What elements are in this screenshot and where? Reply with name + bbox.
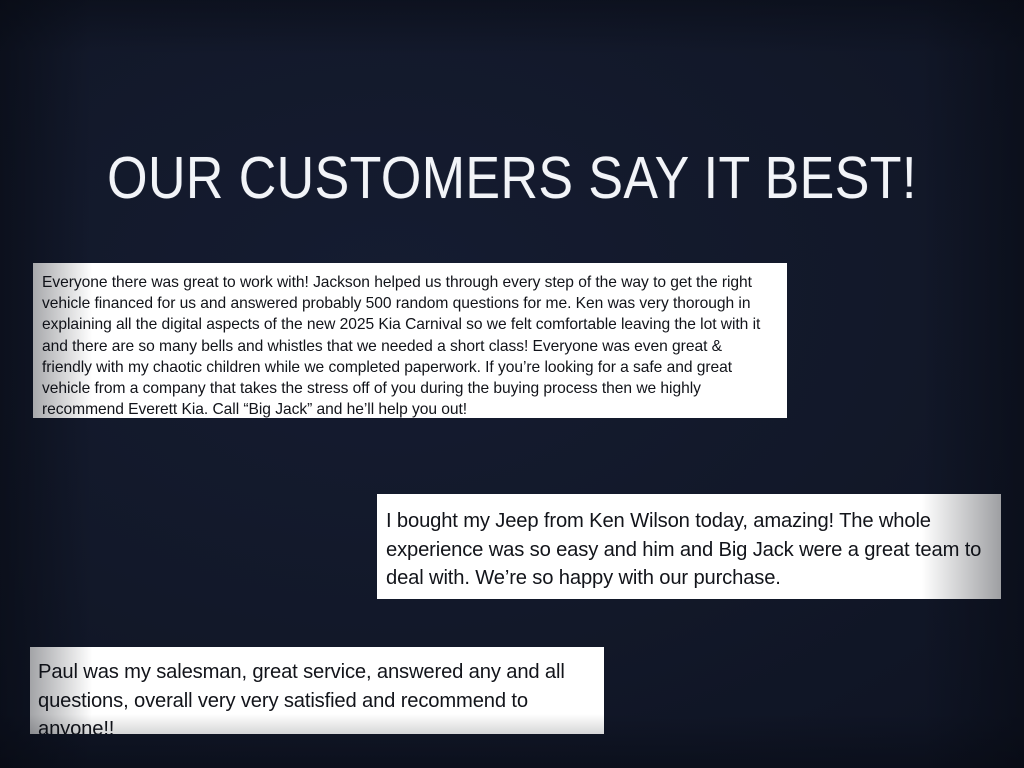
testimonial-text: Everyone there was great to work with! J… — [42, 272, 775, 418]
testimonial-text: I bought my Jeep from Ken Wilson today, … — [386, 507, 987, 593]
testimonial-card-1: Everyone there was great to work with! J… — [33, 263, 787, 418]
testimonial-card-3: Paul was my salesman, great service, ans… — [30, 647, 604, 734]
testimonial-slide: OUR CUSTOMERS SAY IT BEST! Everyone ther… — [0, 0, 1024, 768]
testimonial-text: Paul was my salesman, great service, ans… — [38, 658, 592, 734]
page-title: OUR CUSTOMERS SAY IT BEST! — [61, 148, 962, 210]
testimonial-card-2: I bought my Jeep from Ken Wilson today, … — [377, 494, 1001, 599]
